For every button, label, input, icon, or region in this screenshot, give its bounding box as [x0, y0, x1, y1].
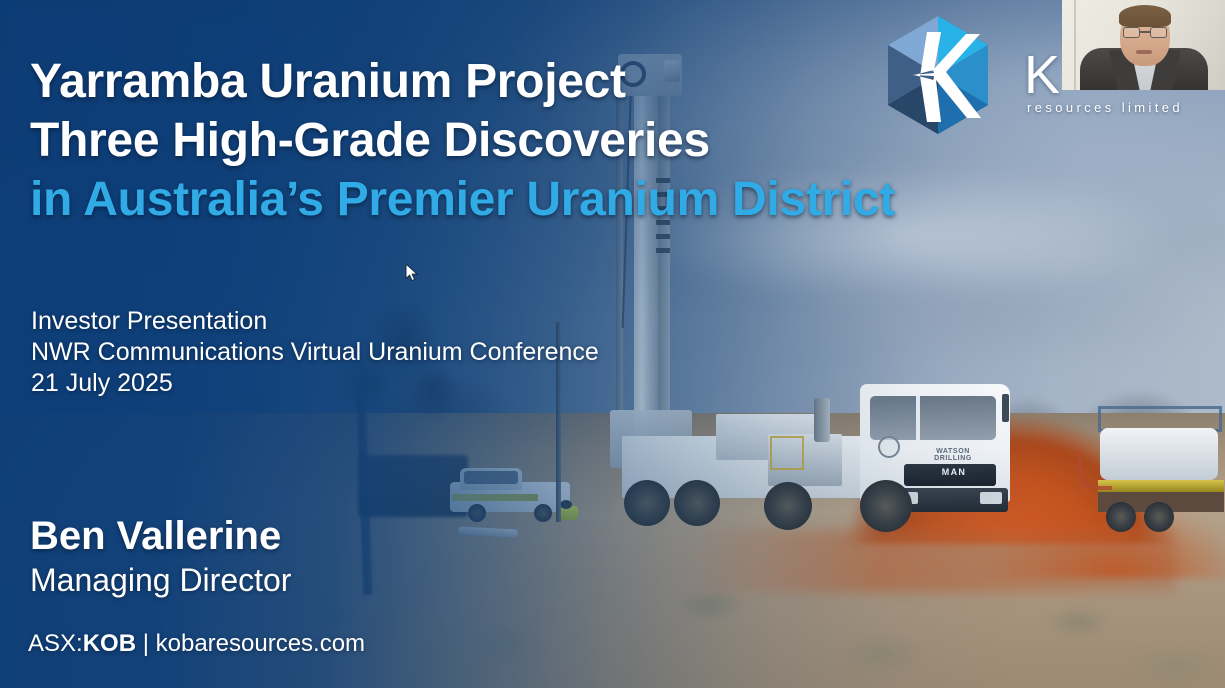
glasses-bridge: [1140, 31, 1150, 33]
title-line-2: Three High-Grade Discoveries: [30, 111, 930, 170]
title-line-1: Yarramba Uranium Project: [30, 52, 930, 111]
presenter-mouth: [1136, 50, 1152, 54]
subtitle-line-1: Investor Presentation: [31, 306, 791, 337]
ticker-separator: |: [136, 630, 156, 657]
logo-tagline: resources limited: [1027, 100, 1183, 115]
subtitle-line-3: 21 July 2025: [31, 368, 791, 399]
title-line-3: in Australia’s Premier Uranium District: [30, 170, 930, 229]
mouse-cursor: [405, 263, 419, 282]
hexagon-k-icon: [884, 14, 992, 136]
presentation-slide: WATSON DRILLING MAN Yarramba Uranium Pro…: [0, 0, 1225, 688]
glasses-icon: [1123, 27, 1167, 38]
presenter-hair: [1119, 5, 1171, 27]
logo-letter: K: [1024, 48, 1061, 102]
presenter-role: Managing Director: [30, 560, 291, 600]
presenter-webcam-feed[interactable]: [1062, 0, 1225, 90]
slide-title: Yarramba Uranium Project Three High-Grad…: [30, 52, 930, 229]
exchange-prefix: ASX:: [28, 630, 83, 657]
slide-subtitle: Investor Presentation NWR Communications…: [31, 306, 791, 399]
glasses-lens-right: [1150, 27, 1167, 38]
presenter-name: Ben Vallerine: [30, 512, 281, 560]
webcam-wall-edge: [1074, 0, 1076, 90]
subtitle-line-2: NWR Communications Virtual Uranium Confe…: [31, 337, 791, 368]
footer-ticker: ASX:KOB | kobaresources.com: [28, 628, 365, 659]
glasses-lens-left: [1123, 27, 1140, 38]
website-url: kobaresources.com: [156, 630, 365, 657]
ticker-symbol: KOB: [83, 630, 136, 657]
